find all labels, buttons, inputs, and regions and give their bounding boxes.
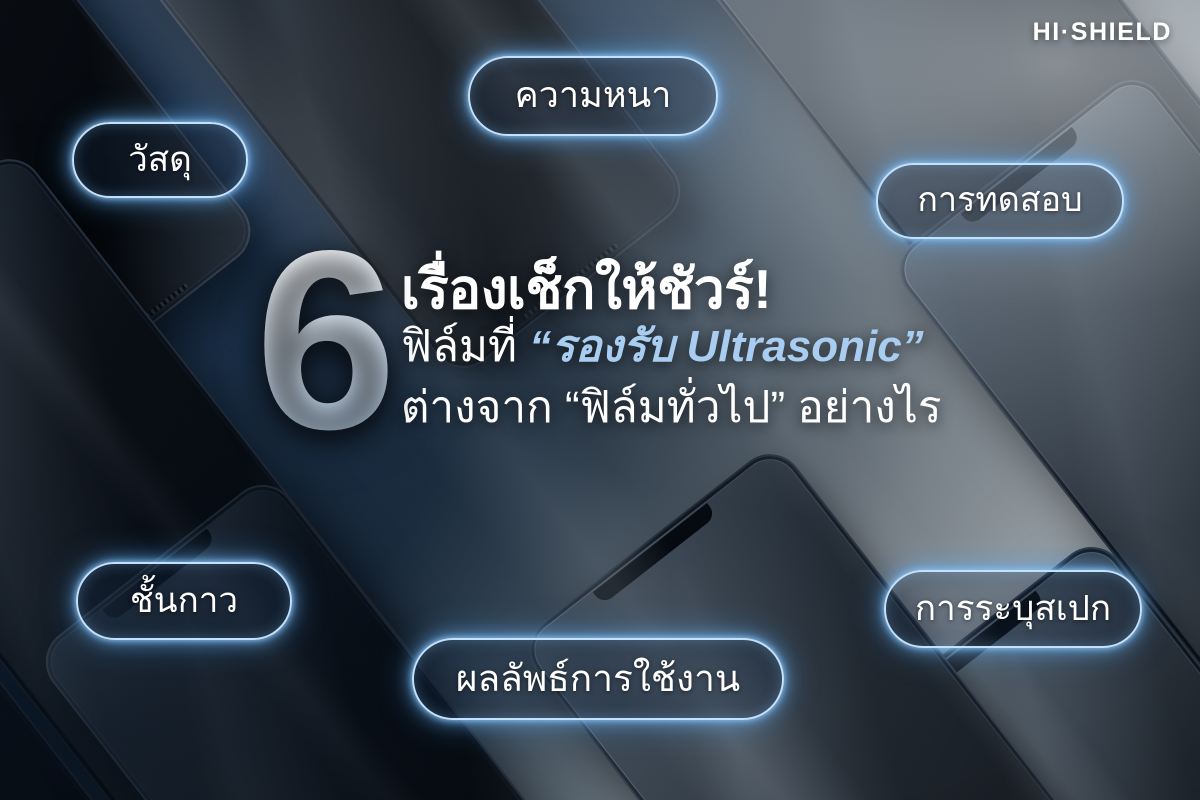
headline-line-2: ฟิล์มที่ “รองรับ Ultrasonic”	[401, 317, 942, 378]
topic-pill-spec[interactable]: การระบุสเปก	[884, 570, 1142, 648]
headline-line-2-accent: “รองรับ Ultrasonic”	[529, 322, 924, 371]
headline-number: 6	[255, 239, 391, 443]
topic-pill-adhesive[interactable]: ชั้นกาว	[76, 562, 292, 640]
topic-pill-thickness-label: ความหนา	[515, 77, 672, 115]
headline-line-1: เรื่องเช็กให้ชัวร์!	[401, 261, 942, 317]
headline-line-2-prefix: ฟิล์มที่	[401, 322, 529, 371]
topic-pill-usage[interactable]: ผลลัพธ์การใช้งาน	[412, 638, 784, 720]
poster-canvas: HI·SHIELD 6 เรื่องเช็กให้ชัวร์! ฟิล์มที่…	[0, 0, 1200, 800]
topic-pill-material-label: วัสดุ	[128, 142, 192, 179]
topic-pill-testing-label: การทดสอบ	[917, 183, 1082, 219]
topic-pill-material[interactable]: วัสดุ	[72, 122, 248, 198]
headline-block: 6 เรื่องเช็กให้ชัวร์! ฟิล์มที่ “รองรับ U…	[255, 245, 942, 443]
headline-text-group: เรื่องเช็กให้ชัวร์! ฟิล์มที่ “รองรับ Ult…	[401, 245, 942, 439]
headline-line-3: ต่างจาก “ฟิล์มทั่วไป” อย่างไร	[401, 378, 942, 439]
topic-pill-thickness[interactable]: ความหนา	[468, 56, 718, 136]
topic-pill-usage-label: ผลลัพธ์การใช้งาน	[456, 660, 740, 699]
topic-pill-spec-label: การระบุสเปก	[915, 591, 1111, 628]
brand-logo: HI·SHIELD	[1033, 18, 1172, 47]
topic-pill-testing[interactable]: การทดสอบ	[876, 163, 1124, 239]
topic-pill-adhesive-label: ชั้นกาว	[130, 583, 238, 620]
